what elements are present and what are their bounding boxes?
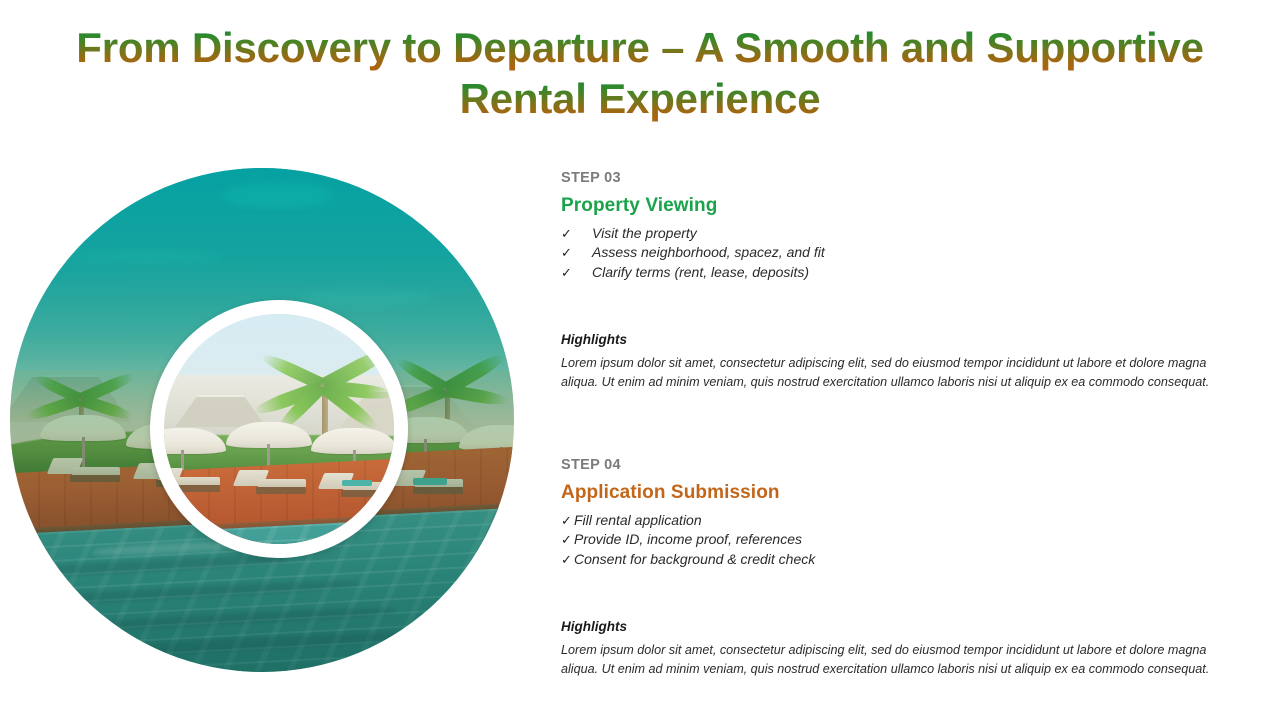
- step-block-04: STEP 04 Application Submission ✓ Fill re…: [561, 457, 1226, 569]
- step-title-04: Application Submission: [561, 482, 1226, 504]
- step-label-03: STEP 03: [561, 170, 1226, 186]
- check-icon: ✓: [561, 531, 574, 549]
- step-title-03: Property Viewing: [561, 195, 1226, 217]
- list-item-label: Consent for background & credit check: [574, 550, 815, 569]
- highlights-block-04: Highlights Lorem ipsum dolor sit amet, c…: [561, 619, 1226, 679]
- list-item-label: Provide ID, income proof, references: [574, 530, 802, 549]
- inner-photo-wash: [164, 314, 394, 544]
- check-icon: ✓: [561, 244, 592, 262]
- inner-photo-circle: [150, 300, 408, 558]
- inner-photo-clip: [164, 314, 394, 544]
- list-item-label: Fill rental application: [574, 511, 702, 530]
- highlights-label-03: Highlights: [561, 332, 1226, 347]
- slide-canvas: From Discovery to Departure – A Smooth a…: [0, 0, 1280, 720]
- list-item: ✓ Fill rental application: [561, 511, 1226, 530]
- step-label-04: STEP 04: [561, 457, 1226, 473]
- check-icon: ✓: [561, 551, 574, 569]
- title-line-2: Rental Experience: [60, 73, 1220, 124]
- highlights-text-04: Lorem ipsum dolor sit amet, consectetur …: [561, 641, 1226, 679]
- check-icon: ✓: [561, 225, 592, 243]
- list-item: ✓ Visit the property: [561, 224, 1226, 243]
- highlights-text-03: Lorem ipsum dolor sit amet, consectetur …: [561, 354, 1226, 392]
- step-04-bullet-list: ✓ Fill rental application ✓ Provide ID, …: [561, 511, 1226, 569]
- resort-photo-composition: [10, 168, 514, 672]
- list-item: ✓ Assess neighborhood, spacez, and fit: [561, 243, 1226, 262]
- list-item: ✓ Consent for background & credit check: [561, 550, 1226, 569]
- list-item-label: Clarify terms (rent, lease, deposits): [592, 263, 809, 282]
- list-item: ✓ Clarify terms (rent, lease, deposits): [561, 263, 1226, 282]
- page-title: From Discovery to Departure – A Smooth a…: [60, 22, 1220, 124]
- list-item-label: Visit the property: [592, 224, 697, 243]
- check-icon: ✓: [561, 264, 592, 282]
- highlights-label-04: Highlights: [561, 619, 1226, 634]
- list-item: ✓ Provide ID, income proof, references: [561, 530, 1226, 549]
- check-icon: ✓: [561, 512, 574, 530]
- step-block-03: STEP 03 Property Viewing ✓ Visit the pro…: [561, 170, 1226, 282]
- title-line-1: From Discovery to Departure – A Smooth a…: [60, 22, 1220, 73]
- list-item-label: Assess neighborhood, spacez, and fit: [592, 243, 825, 262]
- highlights-block-03: Highlights Lorem ipsum dolor sit amet, c…: [561, 332, 1226, 392]
- step-03-bullet-list: ✓ Visit the property ✓ Assess neighborho…: [561, 224, 1226, 282]
